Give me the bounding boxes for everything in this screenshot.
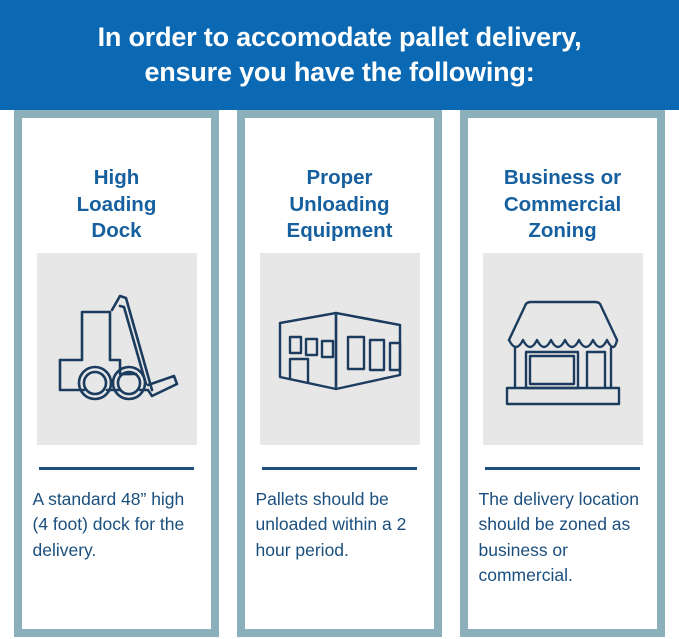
card-body-text: Pallets should be unloaded within a 2 ho… bbox=[256, 487, 424, 563]
card-body-text: A standard 48” high (4 foot) dock for th… bbox=[33, 487, 201, 563]
icon-panel bbox=[483, 253, 643, 445]
card-divider bbox=[485, 467, 640, 470]
card-heading: High Loading Dock bbox=[77, 165, 157, 245]
icon-panel bbox=[37, 253, 197, 445]
card-divider bbox=[262, 467, 417, 470]
card-body-text: The delivery location should be zoned as… bbox=[479, 487, 647, 589]
card-inner: High Loading Dock bbox=[22, 118, 211, 629]
storefront-icon bbox=[499, 290, 627, 408]
requirement-card-loading-dock: High Loading Dock bbox=[14, 110, 219, 637]
card-heading: Business or Commercial Zoning bbox=[504, 165, 621, 245]
forklift-icon bbox=[52, 284, 182, 414]
icon-panel bbox=[260, 253, 420, 445]
page-title: In order to accomodate pallet delivery, … bbox=[84, 20, 596, 89]
card-inner: Proper Unloading Equipment bbox=[245, 118, 434, 629]
requirement-card-unloading-equipment: Proper Unloading Equipment bbox=[237, 110, 442, 637]
requirements-columns: High Loading Dock bbox=[0, 110, 679, 639]
card-heading: Proper Unloading Equipment bbox=[287, 165, 393, 245]
infographic-root: In order to accomodate pallet delivery, … bbox=[0, 0, 679, 639]
header-banner: In order to accomodate pallet delivery, … bbox=[0, 0, 679, 110]
warehouse-building-icon bbox=[274, 293, 406, 405]
card-inner: Business or Commercial Zoning bbox=[468, 118, 657, 629]
card-divider bbox=[39, 467, 194, 470]
requirement-card-zoning: Business or Commercial Zoning bbox=[460, 110, 665, 637]
